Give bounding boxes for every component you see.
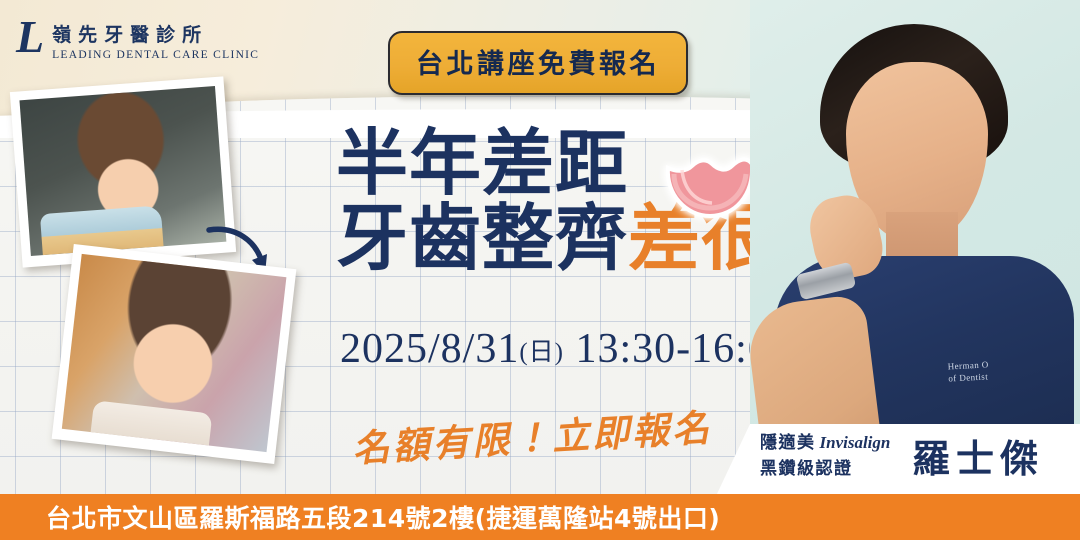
free-signup-badge[interactable]: 台北講座免費報名 (388, 31, 688, 95)
doctor-credentials: 隱適美Invisalign 黑鑽級認證 (760, 430, 890, 483)
scrubs-embroidery: Herman O of Dentist (947, 356, 1044, 385)
badge-label: 台北講座免費報名 (416, 49, 660, 80)
photo-before-image (19, 86, 226, 256)
credential-brand: Invisalign (820, 433, 891, 452)
event-date: 2025/8/31 (340, 326, 519, 372)
headline-line-2-navy: 牙齒整齊 (336, 201, 628, 276)
clinic-name-cn: 嶺先牙醫診所 (52, 20, 259, 47)
event-day-of-week: (日) (519, 339, 564, 366)
retainer-icon (660, 148, 758, 220)
address-bar: 台北市文山區羅斯福路五段214號2樓(捷運萬隆站4號出口) (0, 494, 1080, 540)
logo-monogram-icon: L (14, 14, 44, 66)
credential-line-1-row: 隱適美Invisalign (760, 430, 890, 456)
photo-after-image (62, 254, 287, 452)
doctor-name: 羅士傑 (912, 428, 1044, 483)
photo-before (10, 76, 236, 267)
credential-line-2: 黑鑽級認證 (760, 456, 890, 482)
clinic-name-en: LEADING DENTAL CARE CLINIC (52, 49, 259, 61)
address-text: 台北市文山區羅斯福路五段214號2樓(捷運萬隆站4號出口) (46, 499, 720, 535)
credential-line-1: 隱適美 (760, 433, 816, 453)
logo-text-block: 嶺先牙醫診所 LEADING DENTAL CARE CLINIC (52, 20, 259, 61)
photo-after (52, 244, 297, 464)
event-datetime: 2025/8/31(日) 13:30-16:00 (340, 325, 792, 373)
promo-banner: L 嶺先牙醫診所 LEADING DENTAL CARE CLINIC 台北講座… (0, 0, 1080, 540)
clinic-logo[interactable]: L 嶺先牙醫診所 LEADING DENTAL CARE CLINIC (14, 14, 259, 66)
